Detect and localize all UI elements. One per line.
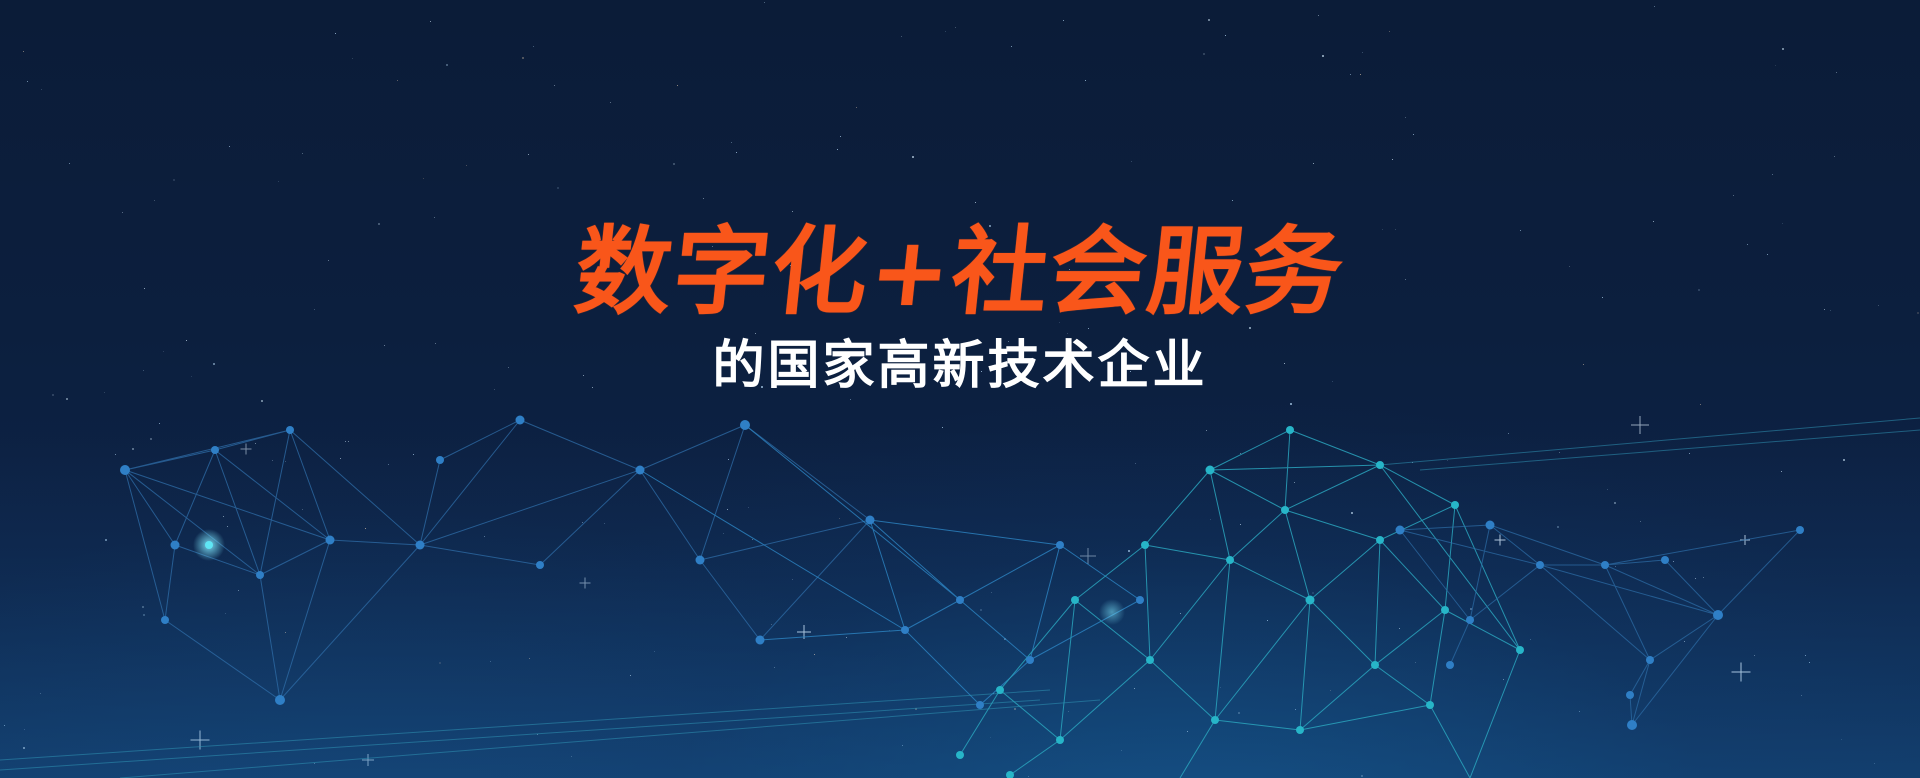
star-dot xyxy=(302,509,303,510)
star-dot xyxy=(1782,48,1784,50)
star-dot xyxy=(1131,161,1132,162)
star-dot xyxy=(571,756,572,757)
star-sparkle xyxy=(1740,535,1750,545)
star-dot xyxy=(912,156,914,158)
star-dot xyxy=(1673,561,1674,562)
star-dot xyxy=(1063,20,1064,21)
star-dot xyxy=(736,152,737,153)
star-dot xyxy=(261,400,263,402)
star-dot xyxy=(731,142,732,143)
star-dot xyxy=(1579,711,1580,712)
hero-copy: 数字化+社会服务 的国家高新技术企业 xyxy=(0,222,1920,394)
star-dot xyxy=(340,458,341,459)
star-dot xyxy=(1004,638,1006,640)
star-dot xyxy=(1684,641,1685,642)
star-dot xyxy=(150,438,152,440)
star-dot xyxy=(40,693,41,694)
star-dot xyxy=(1220,687,1221,688)
star-dot xyxy=(1689,453,1690,454)
star-dot xyxy=(24,729,25,730)
star-dot xyxy=(792,579,793,580)
star-dot xyxy=(1843,459,1845,461)
star-dot xyxy=(955,27,956,28)
star-dot xyxy=(154,200,155,201)
star-dot xyxy=(1203,53,1205,55)
star-dot xyxy=(1011,46,1012,47)
star-dot xyxy=(840,136,841,137)
star-sparkle xyxy=(1631,416,1649,434)
star-dot xyxy=(774,667,775,668)
star-dot xyxy=(1640,521,1641,522)
star-dot xyxy=(1413,134,1414,135)
star-sparkle xyxy=(1080,548,1096,564)
star-dot xyxy=(1412,462,1413,463)
star-dot xyxy=(1399,628,1400,629)
star-dot xyxy=(610,102,611,103)
star-dot xyxy=(490,661,491,662)
star-dot xyxy=(23,51,24,52)
star-dot xyxy=(1351,512,1353,514)
star-dot xyxy=(41,89,42,90)
star-dot xyxy=(942,427,943,428)
star-dot xyxy=(557,187,559,189)
star-dot xyxy=(1312,592,1314,594)
star-dot xyxy=(991,592,992,593)
star-dot xyxy=(285,461,286,462)
star-dot xyxy=(1447,460,1448,461)
star-dot xyxy=(285,632,286,633)
star-dot xyxy=(846,637,847,638)
star-dot xyxy=(335,33,336,34)
star-dot xyxy=(446,64,448,66)
star-dot xyxy=(345,441,346,442)
star-dot xyxy=(1068,711,1069,712)
star-dot xyxy=(1405,117,1406,118)
star-dot xyxy=(1322,55,1324,57)
page-subtitle: 的国家高新技术企业 xyxy=(0,337,1920,394)
star-dot xyxy=(1874,763,1875,764)
star-dot xyxy=(1703,577,1704,578)
star-dot xyxy=(348,441,349,442)
star-dot xyxy=(837,149,838,150)
star-dot xyxy=(413,454,414,455)
star-dot xyxy=(255,443,256,444)
star-dot xyxy=(4,725,5,726)
star-dot xyxy=(792,211,793,212)
star-dot xyxy=(1240,524,1241,525)
star-dot xyxy=(889,630,890,631)
star-dot xyxy=(1180,613,1181,614)
star-dot xyxy=(1607,489,1608,490)
star-dot xyxy=(764,2,765,3)
star-dot xyxy=(1772,174,1773,175)
star-dot xyxy=(423,178,424,179)
star-dot xyxy=(223,516,224,517)
star-dot xyxy=(856,107,857,108)
star-dot xyxy=(122,212,123,213)
star-dot xyxy=(1362,52,1363,53)
star-dot xyxy=(1614,502,1616,504)
hero-banner: 数字化+社会服务 的国家高新技术企业 xyxy=(0,0,1920,778)
star-dot xyxy=(533,46,534,47)
star-dot xyxy=(272,460,273,461)
star-dot xyxy=(365,528,366,529)
star-dot xyxy=(229,146,230,147)
star-dot xyxy=(1508,433,1509,434)
page-title: 数字化+社会服务 xyxy=(0,222,1920,323)
star-dot xyxy=(1809,662,1810,663)
star-dot xyxy=(554,85,555,86)
star-dot xyxy=(1085,80,1086,81)
star-dot xyxy=(1781,471,1782,472)
star-dot xyxy=(980,609,982,611)
star-dot xyxy=(727,509,728,510)
star-dot xyxy=(69,163,70,164)
star-dot xyxy=(582,522,583,523)
star-dot xyxy=(673,163,675,165)
star-dot xyxy=(677,85,678,86)
star-dot xyxy=(902,745,903,746)
star-dot xyxy=(484,536,485,537)
star-dot xyxy=(1415,662,1416,663)
star-dot xyxy=(1559,452,1560,453)
star-dot xyxy=(388,464,389,465)
star-dot xyxy=(1014,708,1016,710)
star-dot xyxy=(1834,156,1835,157)
star-dot xyxy=(1733,195,1734,196)
star-dot xyxy=(1361,775,1363,777)
star-dot xyxy=(1206,430,1207,431)
star-dot xyxy=(1330,690,1331,691)
star-dot xyxy=(771,624,772,625)
star-dot xyxy=(1700,404,1701,405)
star-dot xyxy=(723,533,724,534)
star-dot xyxy=(1503,679,1504,680)
star-dot xyxy=(1313,163,1314,164)
star-dot xyxy=(1615,566,1616,567)
star-sparkle xyxy=(1495,535,1506,546)
star-dot xyxy=(975,202,976,203)
star-dot xyxy=(1128,550,1130,552)
star-dot xyxy=(630,675,631,676)
star-dot xyxy=(1240,453,1241,454)
star-dot xyxy=(105,539,107,541)
star-dot xyxy=(752,539,753,540)
star-dot xyxy=(537,734,538,735)
star-dot xyxy=(143,614,145,616)
star-dot xyxy=(1805,655,1806,656)
star-dot xyxy=(66,398,68,400)
star-sparkle xyxy=(241,444,252,455)
star-dot xyxy=(901,36,902,37)
star-dot xyxy=(1295,709,1296,710)
star-dot xyxy=(529,658,530,659)
star-dot xyxy=(142,606,144,608)
star-dot xyxy=(352,58,353,59)
star-sparkle xyxy=(797,625,811,639)
star-dot xyxy=(302,153,303,154)
star-dot xyxy=(728,459,729,460)
star-dot xyxy=(466,165,467,166)
star-dot xyxy=(993,693,994,694)
star-dot xyxy=(434,217,435,218)
star-dot xyxy=(1290,403,1292,405)
star-dot xyxy=(1754,655,1755,656)
star-dot xyxy=(132,448,134,450)
star-dot xyxy=(1836,72,1837,73)
star-dot xyxy=(1654,6,1655,7)
star-dot xyxy=(748,507,749,508)
star-dot xyxy=(528,154,529,155)
star-dot xyxy=(115,454,116,455)
star-dot xyxy=(27,81,28,82)
star-dot xyxy=(1294,482,1295,483)
star-dot xyxy=(1360,74,1361,75)
star-dot xyxy=(703,198,704,199)
star-dot xyxy=(1841,739,1842,740)
star-dot xyxy=(1350,74,1351,75)
star-dot xyxy=(604,523,605,524)
star-dot xyxy=(314,763,315,764)
star-dot xyxy=(430,21,431,22)
star-dot xyxy=(225,613,226,614)
star-dot xyxy=(1392,159,1393,160)
star-dot xyxy=(227,526,228,527)
star-dot xyxy=(1135,463,1136,464)
star-dot xyxy=(1470,608,1472,610)
star-dot xyxy=(522,57,524,59)
star-dot xyxy=(1389,31,1390,32)
star-dot xyxy=(159,423,160,424)
star-dot xyxy=(397,80,398,81)
star-dot xyxy=(945,31,946,32)
star-dot xyxy=(1557,526,1559,528)
star-sparkle xyxy=(1732,663,1751,682)
star-dot xyxy=(1225,35,1226,36)
star-dot xyxy=(1695,578,1696,579)
star-dot xyxy=(1210,519,1211,520)
star-dot xyxy=(1208,19,1210,21)
star-dot xyxy=(1187,731,1188,732)
star-dot xyxy=(915,708,917,710)
star-dot xyxy=(23,747,25,749)
star-dot xyxy=(238,590,239,591)
star-dot xyxy=(173,179,175,181)
star-dot xyxy=(1121,750,1122,751)
star-dot xyxy=(654,651,655,652)
star-dot xyxy=(278,181,279,182)
star-dot xyxy=(990,737,991,738)
star-dot xyxy=(1267,620,1268,621)
star-sparkle xyxy=(191,731,210,750)
star-dot xyxy=(814,654,815,655)
star-dot xyxy=(1134,688,1135,689)
star-dot xyxy=(1775,65,1776,66)
star-sparkle xyxy=(580,578,591,589)
star-dot xyxy=(1801,695,1802,696)
star-dot xyxy=(1238,712,1240,714)
star-dot xyxy=(439,662,441,664)
star-dot xyxy=(839,518,840,519)
star-dot xyxy=(52,394,54,396)
star-dot xyxy=(1028,776,1029,777)
star-dot xyxy=(1232,200,1233,201)
star-dot xyxy=(1530,639,1531,640)
star-dot xyxy=(1318,15,1319,16)
star-sparkle xyxy=(362,754,374,766)
star-dot xyxy=(850,399,851,400)
